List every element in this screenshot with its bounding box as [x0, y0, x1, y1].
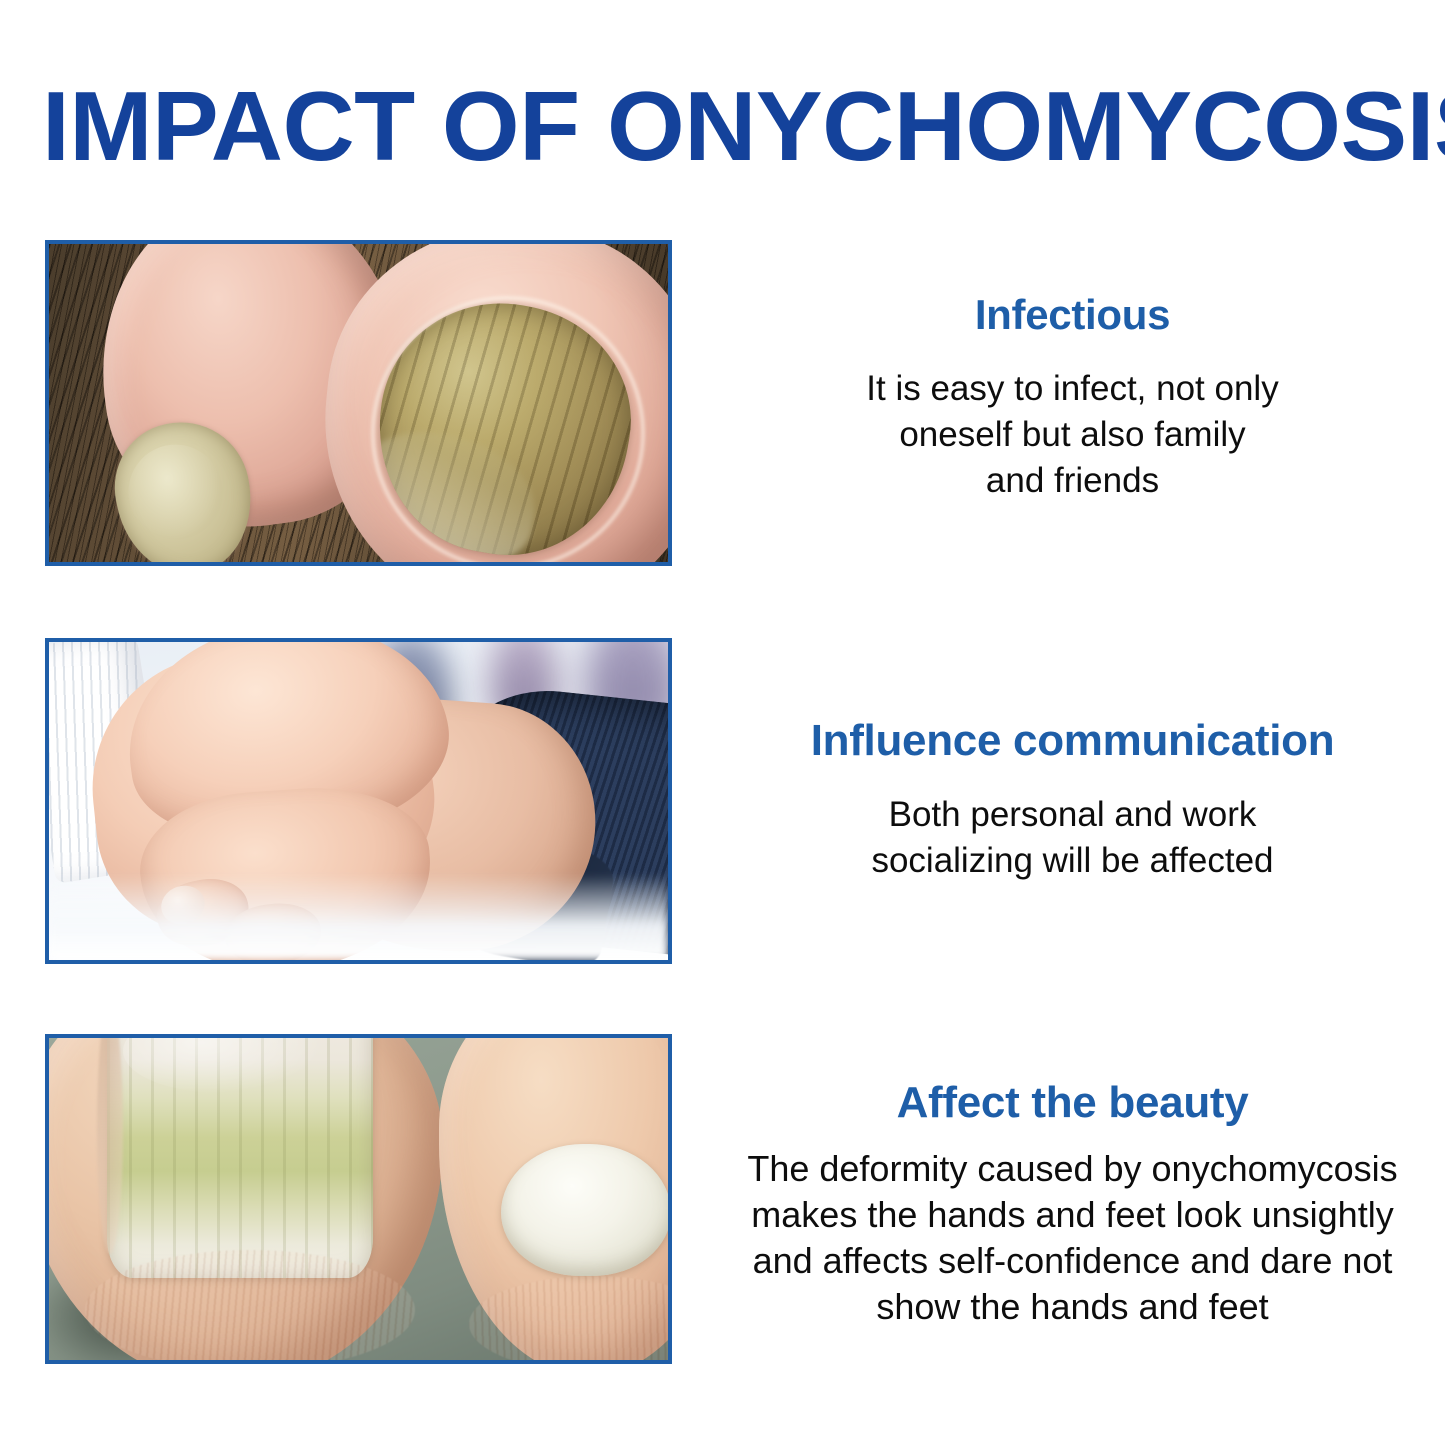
business-handshake-photo — [45, 638, 672, 964]
section-heading-affect-the-beauty: Affect the beauty — [700, 1078, 1445, 1128]
photo-canvas-1 — [49, 244, 668, 562]
section-heading-influence-communication: Influence communication — [700, 716, 1445, 766]
section-infectious: Infectious It is easy to infect, not onl… — [0, 240, 1445, 570]
background-floor-glow — [49, 874, 668, 960]
photo-canvas-3 — [49, 1038, 668, 1360]
section-heading-infectious: Infectious — [700, 290, 1445, 340]
section-affect-the-beauty: Affect the beauty The deformity caused b… — [0, 1034, 1445, 1368]
section-body-affect-the-beauty: The deformity caused by onychomycosis ma… — [700, 1146, 1445, 1330]
discolored-toenail-photo — [45, 1034, 672, 1364]
text-column-2: Influence communication Both personal an… — [700, 716, 1445, 884]
page-title: IMPACT OF ONYCHOMYCOSIS — [42, 72, 1445, 180]
toe-skin-texture-1 — [85, 1250, 415, 1360]
discolored-big-toenail-shape — [107, 1038, 373, 1278]
section-influence-communication: Influence communication Both personal an… — [0, 638, 1445, 968]
section-body-influence-communication: Both personal and work socializing will … — [793, 792, 1353, 884]
section-body-infectious: It is easy to infect, not only oneself b… — [793, 366, 1353, 504]
photo-canvas-2 — [49, 642, 668, 960]
infected-toenails-photo — [45, 240, 672, 566]
second-toenail-shape — [501, 1144, 668, 1276]
text-column-3: Affect the beauty The deformity caused b… — [700, 1078, 1445, 1330]
text-column-1: Infectious It is easy to infect, not onl… — [700, 290, 1445, 504]
